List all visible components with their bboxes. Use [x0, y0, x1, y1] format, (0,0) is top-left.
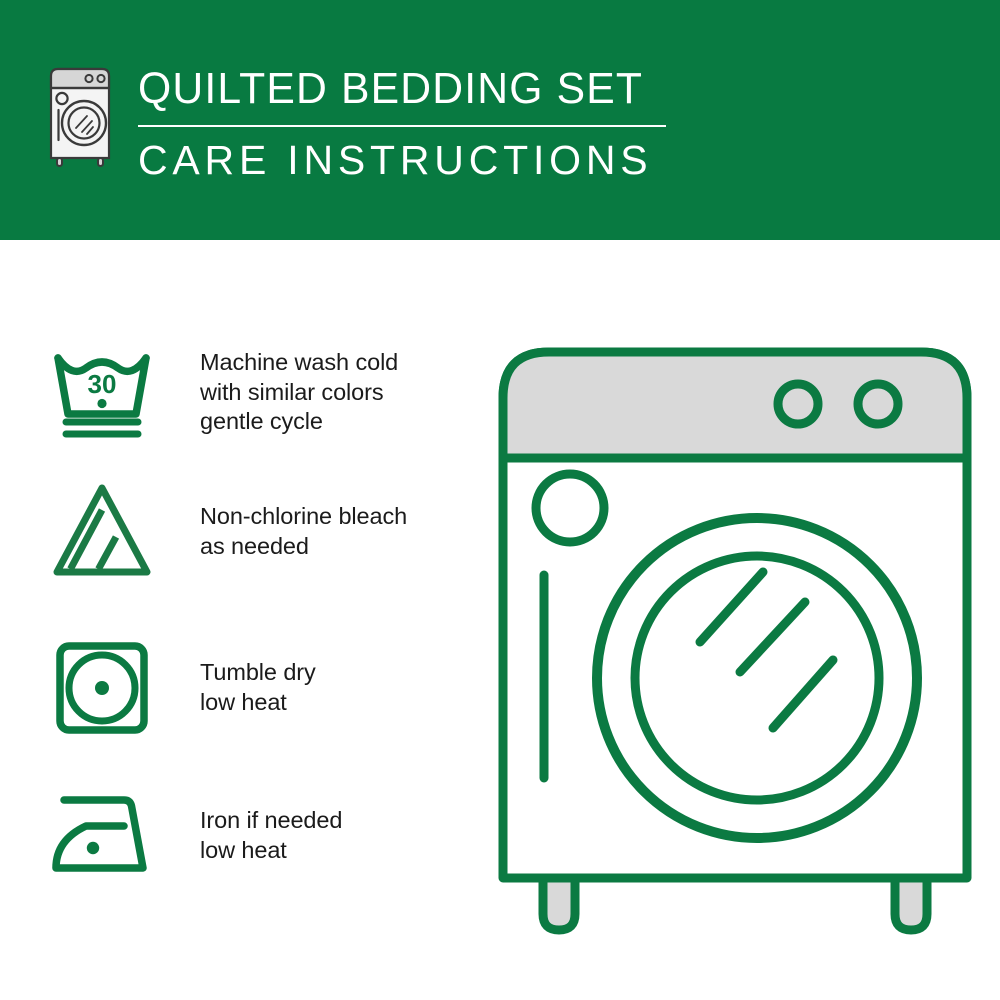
header-text-block: QUILTED BEDDING SET CARE INSTRUCTIONS: [138, 62, 666, 183]
iron-icon: [50, 788, 154, 880]
care-text-line: Iron if needed: [200, 806, 342, 836]
title-divider: [138, 125, 666, 127]
page-title: QUILTED BEDDING SET: [138, 64, 650, 114]
page-subtitle: CARE INSTRUCTIONS: [138, 137, 666, 183]
care-instruction-text: Tumble dry low heat: [200, 638, 316, 717]
care-instruction-item: 30 Machine wash cold with similar colors…: [50, 342, 480, 442]
care-instruction-item: Tumble dry low heat: [50, 638, 480, 738]
care-instruction-text: Machine wash cold with similar colors ge…: [200, 342, 398, 437]
tumble-dry-icon: [50, 638, 154, 738]
care-text-line: with similar colors: [200, 378, 398, 408]
machine-wash-tub-icon: 30: [50, 342, 154, 442]
care-instruction-text: Non-chlorine bleach as needed: [200, 480, 407, 561]
care-text-line: Machine wash cold: [200, 348, 398, 378]
care-instructions-infographic: QUILTED BEDDING SET CARE INSTRUCTIONS 30…: [0, 0, 1000, 1000]
care-instruction-item: Iron if needed low heat: [50, 788, 480, 880]
care-text-line: low heat: [200, 836, 342, 866]
header-band: QUILTED BEDDING SET CARE INSTRUCTIONS: [0, 0, 1000, 240]
care-text-line: Tumble dry: [200, 658, 316, 688]
care-text-line: low heat: [200, 688, 316, 718]
care-instruction-list: 30 Machine wash cold with similar colors…: [0, 240, 500, 1000]
header-content: QUILTED BEDDING SET CARE INSTRUCTIONS: [44, 62, 666, 183]
washing-machine-logo-icon: [44, 62, 116, 170]
wash-temperature-label: 30: [88, 369, 117, 399]
front-load-washing-machine-illustration: [495, 330, 975, 940]
non-chlorine-bleach-triangle-icon: [50, 480, 154, 580]
care-instruction-item: Non-chlorine bleach as needed: [50, 480, 480, 580]
leg-left: [543, 878, 575, 930]
care-instruction-text: Iron if needed low heat: [200, 788, 342, 865]
care-text-line: Non-chlorine bleach: [200, 502, 407, 532]
care-text-line: gentle cycle: [200, 407, 398, 437]
care-text-line: as needed: [200, 532, 407, 562]
leg-right: [895, 878, 927, 930]
